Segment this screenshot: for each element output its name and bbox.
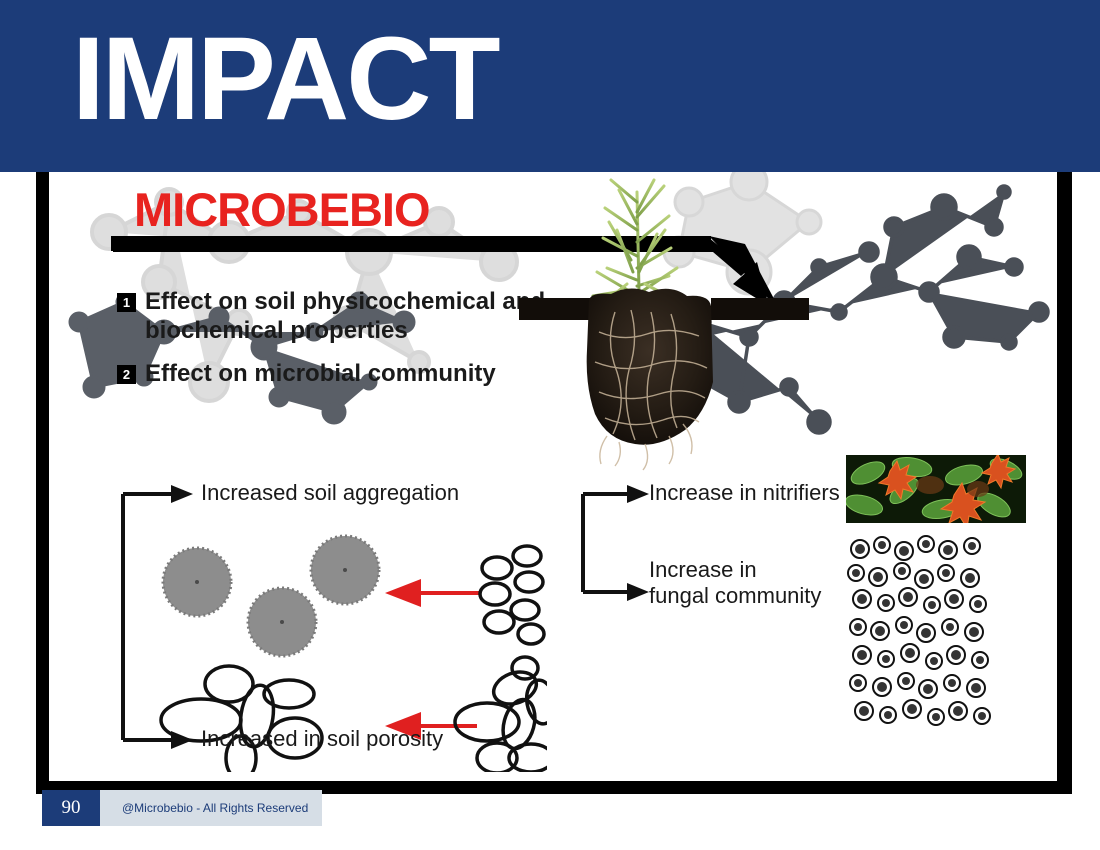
sem-bacteria-micrograph [846, 455, 1026, 523]
plant-root-ball-photo [519, 172, 809, 472]
frame-right-border [1057, 172, 1072, 794]
fungal-cells-micrograph [846, 535, 994, 730]
frame-left-border [36, 172, 49, 790]
right-branch-label-nitrifiers: Increase in nitrifiers [649, 480, 840, 506]
header-band: IMPACT [0, 0, 1100, 172]
page-number-badge: 90 [42, 790, 100, 826]
slide-root: IMPACT [0, 0, 1100, 850]
bullet-number-badge: 1 [117, 293, 136, 312]
bullet-item-1: 1 Effect on soil physicochemical and bio… [117, 287, 547, 345]
bullet-label: Effect on microbial community [145, 359, 496, 388]
left-branch-label-porosity: Increased in soil porosity [201, 726, 443, 752]
bullet-list: 1 Effect on soil physicochemical and bio… [117, 287, 547, 402]
bullet-number-badge: 2 [117, 365, 136, 384]
copyright-credit: @Microbebio - All Rights Reserved [100, 790, 322, 826]
bullet-label: Effect on soil physicochemical and bioch… [145, 287, 547, 345]
bullet-item-2: 2 Effect on microbial community [117, 359, 547, 388]
page-title: IMPACT [72, 20, 498, 138]
left-branch-label-aggregation: Increased soil aggregation [201, 480, 459, 506]
right-branch-label-fungal: Increase in fungal community [649, 557, 821, 609]
content-area: MICROBEBIO 1 Effect on soil physicochemi… [49, 172, 1057, 781]
